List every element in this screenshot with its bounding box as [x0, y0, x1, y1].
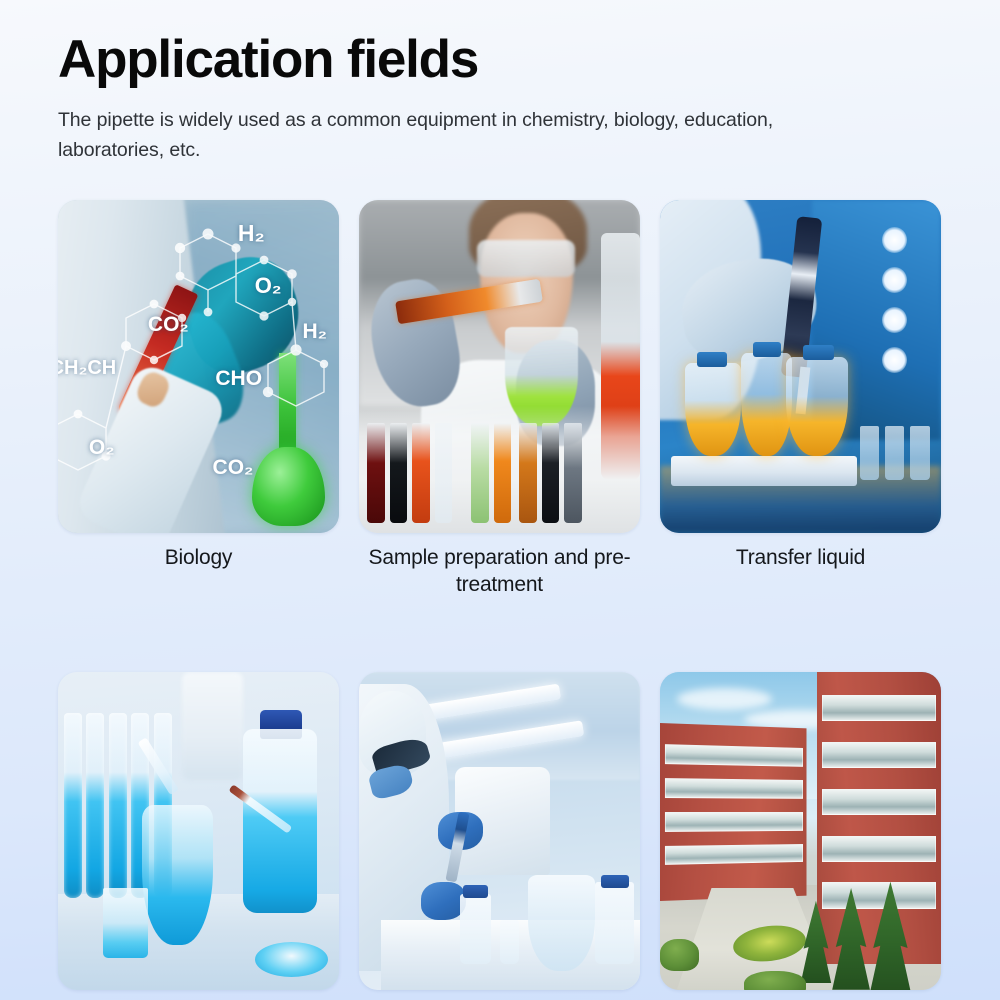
label-co2-bottom: CO₂: [213, 456, 254, 480]
physical-chemistry-thumbnail[interactable]: [58, 672, 339, 990]
window-row-1: [665, 744, 803, 766]
test-tube-grey: [564, 423, 581, 523]
test-tube-3: [109, 713, 127, 897]
application-gallery: H₂ O₂ CO₂ CH₂CH CHO H₂ O₂ CO₂ Biology: [58, 200, 942, 1000]
gallery-cell-sample-preparation[interactable]: Sample preparation and pre-treatment: [359, 200, 640, 599]
window-row-2: [665, 778, 803, 798]
label-ch2ch-left: CH₂CH: [58, 357, 116, 380]
caption-transfer-liquid: Transfer liquid: [736, 545, 865, 572]
application-fields-page: Application fields The pipette is widely…: [0, 0, 1000, 1000]
school-building-right: [817, 672, 941, 965]
flask-2-cap: [753, 342, 781, 357]
bottle-right-cap: [601, 875, 629, 888]
window-row-3: [665, 812, 803, 832]
pump-bottle-shape: [182, 672, 244, 780]
gallery-row-1: H₂ O₂ CO₂ CH₂CH CHO H₂ O₂ CO₂ Biology: [58, 200, 942, 599]
flask-2-shape: [741, 353, 792, 456]
flask-1-cap: [697, 352, 728, 367]
petri-dish-shape: [255, 942, 328, 977]
window-row-5: [822, 882, 936, 908]
test-tube-brown: [519, 423, 536, 523]
label-h2-top: H₂: [238, 220, 265, 247]
flask-1-shape: [685, 363, 741, 456]
vial-3-shape: [910, 426, 930, 479]
erlenmeyer-flask-shape: [528, 875, 595, 970]
caption-biology: Biology: [165, 545, 232, 572]
cloud-1: [677, 688, 773, 710]
label-co2-mid: CO₂: [148, 313, 189, 337]
gallery-row-2: Physical Chemistry Experiment: [58, 672, 942, 1000]
biology-thumbnail[interactable]: H₂ O₂ CO₂ CH₂CH CHO H₂ O₂ CO₂: [58, 200, 339, 533]
test-tube-amber: [494, 423, 511, 523]
safety-goggles-shape: [477, 240, 575, 277]
sample-jar-shape: [460, 894, 491, 964]
hedge-left: [660, 939, 699, 971]
header: Application fields The pipette is widely…: [58, 32, 948, 165]
gloved-hand-lower: [421, 882, 466, 920]
caption-sample-preparation: Sample preparation and pre-treatment: [359, 545, 640, 599]
window-row-3: [822, 789, 936, 815]
gallery-cell-biology[interactable]: H₂ O₂ CO₂ CH₂CH CHO H₂ O₂ CO₂ Biology: [58, 200, 339, 599]
label-o2-bottom: O₂: [89, 436, 115, 460]
page-subtitle: The pipette is widely used as a common e…: [58, 106, 868, 165]
school-building-left: [660, 723, 807, 901]
label-h2-right: H₂: [302, 320, 327, 344]
flask-3-cap: [803, 345, 834, 360]
hedge-front: [744, 971, 806, 990]
beaker-shape: [103, 888, 148, 958]
test-tube-1: [64, 713, 82, 897]
gallery-cell-laboratory[interactable]: Laboratory: [359, 672, 640, 1000]
bottle-right-shape: [595, 882, 634, 965]
sample-jar-cap: [463, 885, 488, 898]
vial-2-shape: [885, 426, 905, 479]
label-o2-top: O₂: [255, 273, 282, 299]
gallery-cell-transfer-liquid[interactable]: Transfer liquid: [660, 200, 941, 599]
window-row-4: [665, 844, 803, 865]
transfer-liquid-thumbnail[interactable]: [660, 200, 941, 533]
gallery-cell-physical-chemistry[interactable]: Physical Chemistry Experiment: [58, 672, 339, 1000]
window-row-1: [822, 695, 936, 721]
laboratory-thumbnail[interactable]: [359, 672, 640, 990]
test-tube-black: [390, 423, 407, 523]
page-title: Application fields: [58, 32, 948, 88]
sample-preparation-thumbnail[interactable]: [359, 200, 640, 533]
label-cho-right: CHO: [215, 367, 262, 391]
education-industry-thumbnail[interactable]: [660, 672, 941, 990]
test-tube-dark: [542, 423, 559, 523]
test-tube-orange: [412, 423, 429, 523]
gallery-cell-education-industry[interactable]: Education industry: [660, 672, 941, 1000]
flask-stand-shape: [671, 456, 856, 486]
small-vial-shape: [500, 920, 520, 965]
test-tube-clear: [435, 423, 452, 523]
erlenmeyer-flask-shape: [142, 805, 212, 945]
test-tube-2: [86, 713, 104, 897]
test-tube-dark-red: [367, 423, 384, 523]
flask-3-shape: [786, 357, 848, 457]
window-row-4: [822, 836, 936, 862]
vial-1-shape: [860, 426, 880, 479]
window-row-2: [822, 742, 936, 768]
test-tube-pale-green: [471, 423, 488, 523]
